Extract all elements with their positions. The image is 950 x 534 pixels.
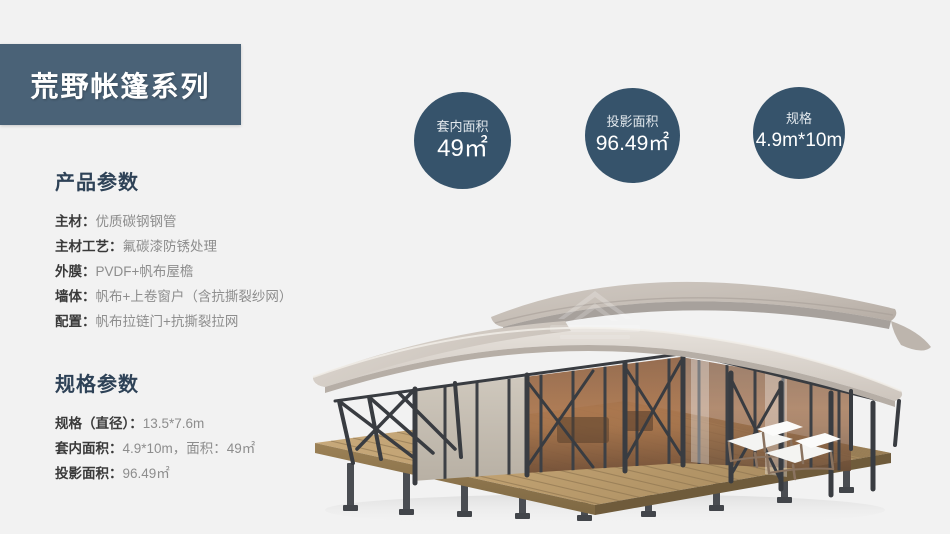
- title-banner: 荒野帐篷系列: [0, 44, 241, 125]
- spec-value: 96.49㎡: [123, 466, 170, 481]
- spec-label: 墙体：: [55, 289, 96, 304]
- badge-interior-area: 套内面积 49㎡: [414, 92, 511, 189]
- spec-value: 4.9*10m，面积：49㎡: [123, 441, 256, 456]
- spec-value: 帆布拉链门+抗撕裂拉网: [96, 314, 239, 329]
- spec-label: 投影面积：: [55, 466, 123, 481]
- spec-label: 主材工艺：: [55, 239, 123, 254]
- product-spec-slide: 荒野帐篷系列 产品参数 主材：优质碳钢钢管 主材工艺：氟碳漆防锈处理 外膜：PV…: [0, 0, 950, 534]
- badge-value: 49㎡: [437, 135, 488, 163]
- badge-dimensions: 规格 4.9m*10m: [753, 87, 845, 179]
- badge-label: 投影面积: [606, 114, 658, 129]
- badge-projected-area: 投影面积 96.49㎡: [585, 88, 680, 183]
- spec-label: 外膜：: [55, 264, 96, 279]
- section-heading-product: 产品参数: [55, 166, 355, 195]
- spec-label: 配置：: [55, 314, 96, 329]
- spec-value: 13.5*7.6m: [143, 416, 205, 431]
- spec-label: 规格（直径）：: [55, 416, 143, 431]
- badge-label: 套内面积: [436, 119, 488, 134]
- spec-value: 优质碳钢钢管: [96, 214, 177, 229]
- spec-label: 套内面积：: [55, 441, 123, 456]
- spec-value: 帆布+上卷窗户（含抗撕裂纱网）: [96, 289, 293, 304]
- spec-label: 主材：: [55, 214, 96, 229]
- spec-value: 氟碳漆防锈处理: [123, 239, 218, 254]
- badge-value: 4.9m*10m: [756, 127, 843, 155]
- slide-title: 荒野帐篷系列: [30, 65, 210, 105]
- badge-value: 96.49㎡: [596, 130, 670, 158]
- tent-render-image: [295, 205, 935, 525]
- spec-value: PVDF+帆布屋檐: [96, 264, 194, 279]
- badge-label: 规格: [786, 111, 812, 126]
